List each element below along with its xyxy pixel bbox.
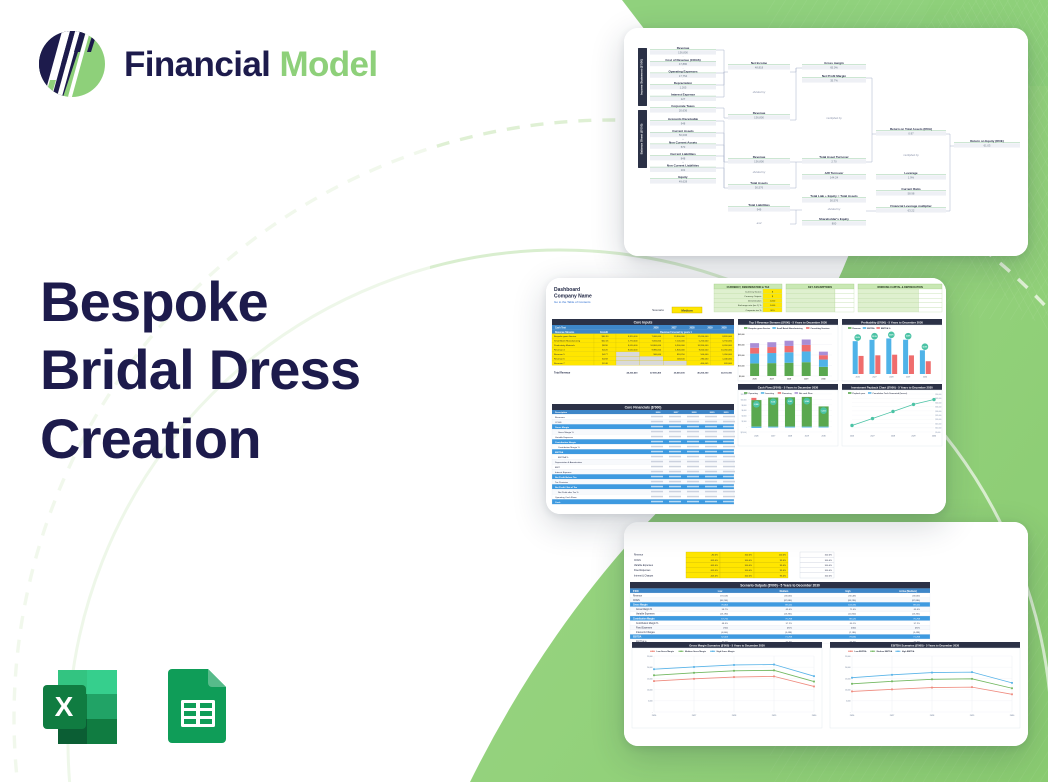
tree-node: multiplied by <box>903 153 919 157</box>
svg-text:Investing: Investing <box>765 392 775 395</box>
svg-text:100.0%: 100.0% <box>745 570 752 572</box>
svg-text:580,000: 580,000 <box>653 354 662 356</box>
svg-text:Net Profit after Tax %: Net Profit after Tax % <box>558 491 579 494</box>
svg-text:818,250: 818,250 <box>677 354 686 356</box>
svg-text:Productivity Materials: Productivity Materials <box>554 344 576 347</box>
svg-text:1,040,000: 1,040,000 <box>722 359 732 361</box>
svg-text:$45,000: $45,000 <box>738 334 745 336</box>
svg-text:20,000: 20,000 <box>845 667 851 669</box>
svg-text:$12,000: $12,000 <box>741 394 747 396</box>
svg-text:Medium Gross Margin: Medium Gross Margin <box>685 651 707 653</box>
svg-text:Total Liabilities: Total Liabilities <box>748 203 770 207</box>
svg-text:Net Profit Before Tax: Net Profit Before Tax <box>555 476 577 479</box>
svg-text:Operating Cash Flows: Operating Cash Flows <box>555 496 578 499</box>
svg-text:2030: 2030 <box>821 436 825 438</box>
svg-text:Gross Margin %: Gross Margin % <box>636 608 652 611</box>
svg-text:EBITDA %: EBITDA % <box>881 327 891 330</box>
svg-text:1.9%: 1.9% <box>908 176 915 180</box>
svg-text:Variable Expenses: Variable Expenses <box>555 436 574 439</box>
svg-text:89,100: 89,100 <box>913 605 920 607</box>
svg-text:Variable Expenses: Variable Expenses <box>634 564 654 567</box>
svg-text:(700): (700) <box>723 628 728 630</box>
svg-text:848: 848 <box>681 156 686 160</box>
svg-text:50,006: 50,006 <box>679 133 688 137</box>
svg-text:-105.0%: -105.0% <box>710 570 718 572</box>
svg-text:Gross Margin Scenarios ($'000): Gross Margin Scenarios ($'000) - 5 Years… <box>689 643 765 647</box>
svg-text:Tax Provision: Tax Provision <box>555 481 569 484</box>
svg-text:71.4%: 71.4% <box>850 609 856 611</box>
svg-text:X: X <box>55 691 74 722</box>
svg-text:Scenario Outputs ($'000) - 5 Y: Scenario Outputs ($'000) - 5 Years to De… <box>740 584 820 588</box>
svg-text:800: 800 <box>832 222 837 226</box>
svg-text:57.2%: 57.2% <box>786 623 792 625</box>
svg-text:Return on Equity (ROE): Return on Equity (ROE) <box>970 139 1004 143</box>
svg-text:2027: 2027 <box>671 327 677 329</box>
svg-text:48.5%: 48.5% <box>722 623 728 625</box>
svg-text:Denomination: Denomination <box>748 300 762 303</box>
svg-text:$5,000: $5,000 <box>739 376 745 378</box>
svg-text:12,050,000: 12,050,000 <box>698 336 710 338</box>
svg-text:Contribution Margin %: Contribution Margin % <box>558 446 580 449</box>
svg-text:divided by: divided by <box>753 170 766 174</box>
svg-text:Bespoke gown Service: Bespoke gown Service <box>748 328 771 330</box>
svg-text:Corporate Taxes: Corporate Taxes <box>671 104 695 108</box>
svg-text:2028: 2028 <box>689 327 695 329</box>
svg-text:Revenue 4: Revenue 4 <box>554 350 565 352</box>
page-title-line-1: Bespoke <box>40 268 460 336</box>
svg-text:100.0%: 100.0% <box>825 570 832 572</box>
svg-text:2026: 2026 <box>754 436 758 438</box>
svg-text:Accounts Receivable: Accounts Receivable <box>668 117 699 121</box>
svg-text:Revenue: Revenue <box>634 555 644 557</box>
svg-text:Cash: Cash <box>555 502 561 504</box>
svg-text:-105.0%: -105.0% <box>710 560 718 562</box>
svg-text:2030: 2030 <box>724 412 730 414</box>
svg-text:2030: 2030 <box>721 327 727 329</box>
svg-text:100.0%: 100.0% <box>825 565 832 567</box>
svg-text:High Gross Margin: High Gross Margin <box>717 651 736 653</box>
brand-logo[interactable]: Financial Model <box>36 28 378 100</box>
svg-text:(13,361): (13,361) <box>912 614 920 616</box>
svg-text:6,010,000: 6,010,000 <box>722 345 732 347</box>
svg-text:Low EBITDA: Low EBITDA <box>855 650 868 653</box>
svg-text:58.98: 58.98 <box>908 192 915 196</box>
svg-text:multiplied by: multiplied by <box>903 153 919 157</box>
svg-text:1,050,000: 1,050,000 <box>722 354 732 356</box>
svg-text:$35,000: $35,000 <box>936 407 942 409</box>
svg-text:CURRENCY, DENOMINATION & TAX: CURRENCY, DENOMINATION & TAX <box>727 286 770 289</box>
dashboard-canvas: DashboardCompany NameGo to the Table of … <box>546 278 946 514</box>
svg-text:Bespoke gown Service: Bespoke gown Service <box>554 335 577 338</box>
svg-text:-105.0%: -105.0% <box>710 565 718 567</box>
svg-text:60.1%: 60.1% <box>850 623 856 625</box>
svg-text:A/R Turnover: A/R Turnover <box>825 171 845 175</box>
svg-text:Current Liabilities: Current Liabilities <box>670 152 696 156</box>
svg-text:Operating: Operating <box>748 392 758 395</box>
svg-text:Exchange rate (tax 1) %: Exchange rate (tax 1) % <box>738 304 762 307</box>
svg-text:Gross Margin %: Gross Margin % <box>558 431 574 434</box>
svg-text:Revenue: Revenue <box>852 328 861 330</box>
svg-text:Medium: Medium <box>780 591 789 593</box>
svg-text:Revenue: Revenue <box>677 46 690 50</box>
svg-text:(4,840): (4,840) <box>721 632 728 634</box>
svg-text:2029: 2029 <box>805 436 809 438</box>
svg-text:570: 570 <box>681 145 686 149</box>
svg-text:7,080,000: 7,080,000 <box>652 336 662 338</box>
svg-text:(87,880): (87,880) <box>784 600 792 602</box>
svg-text:9,136: 9,136 <box>771 401 775 403</box>
svg-text:Net cash Flow: Net cash Flow <box>799 392 813 395</box>
svg-text:Growth: Growth <box>600 331 609 334</box>
svg-text:2027: 2027 <box>674 412 680 414</box>
svg-text:(83,290): (83,290) <box>848 600 856 602</box>
svg-text:76,864: 76,864 <box>721 605 728 607</box>
svg-text:(80,206): (80,206) <box>720 600 728 602</box>
svg-text:2028: 2028 <box>788 436 792 438</box>
svg-text:144.24: 144.24 <box>830 176 839 180</box>
svg-text:Revenue: Revenue <box>633 595 643 597</box>
svg-text:1.000: 1.000 <box>770 305 776 307</box>
svg-text:500,000: 500,000 <box>701 354 710 356</box>
svg-text:High EBITDA: High EBITDA <box>902 650 915 653</box>
dupont-tree-canvas: Income Statement ($'000)Balance Sheet ($… <box>624 28 1028 256</box>
svg-text:Income Statement ($'000): Income Statement ($'000) <box>640 59 644 95</box>
svg-text:2030: 2030 <box>923 376 927 378</box>
svg-text:$15,000: $15,000 <box>738 366 745 368</box>
svg-text:2028: 2028 <box>692 412 698 414</box>
svg-text:$25,000: $25,000 <box>738 355 745 357</box>
svg-text:Current Ratio: Current Ratio <box>901 187 920 191</box>
svg-text:206,800: 206,800 <box>784 595 793 597</box>
svg-text:$15,000: $15,000 <box>936 423 942 425</box>
svg-text:Gross Margin: Gross Margin <box>555 427 570 429</box>
svg-text:$50,000: $50,000 <box>936 394 942 396</box>
svg-text:$8.90: $8.90 <box>602 345 608 347</box>
svg-text:48,818: 48,818 <box>755 66 764 70</box>
svg-text:Revenue 7: Revenue 7 <box>554 363 565 365</box>
svg-text:0.97: 0.97 <box>908 132 914 136</box>
tree-node: multiplied by <box>826 116 842 120</box>
svg-text:Gross Margin: Gross Margin <box>633 604 648 607</box>
brand-wordmark: Financial Model <box>124 47 378 82</box>
svg-text:100.0%: 100.0% <box>745 575 752 577</box>
dashboard-screenshot[interactable]: DashboardCompany NameGo to the Table of … <box>546 278 946 514</box>
svg-text:(13,190): (13,190) <box>720 614 728 616</box>
svg-text:$6,000: $6,000 <box>742 410 747 412</box>
svg-text:Non Current Assets: Non Current Assets <box>669 140 697 144</box>
svg-text:Low Gross Margin: Low Gross Margin <box>657 651 675 653</box>
svg-text:2026: 2026 <box>856 376 860 378</box>
svg-text:Top 5 Revenue Streams ($'000): Top 5 Revenue Streams ($'000) - 5 Years … <box>749 320 827 324</box>
svg-text:EBITDA: EBITDA <box>555 451 564 454</box>
google-sheets-icon[interactable] <box>154 663 242 751</box>
svg-text:13,800,000: 13,800,000 <box>674 336 686 338</box>
svg-text:Cost of Revenue (COGS): Cost of Revenue (COGS) <box>665 58 700 62</box>
svg-text:multiplied by: multiplied by <box>826 116 842 120</box>
svg-text:$10,000: $10,000 <box>741 399 747 401</box>
svg-text:Revenue: Revenue <box>753 111 766 115</box>
svg-text:15,000: 15,000 <box>845 678 851 680</box>
svg-text:Corporate tax %: Corporate tax % <box>746 309 762 312</box>
page-title-line-2: Bridal Dress <box>40 336 460 404</box>
svg-text:206,800: 206,800 <box>912 595 921 597</box>
svg-text:Financing: Financing <box>782 393 792 395</box>
svg-text:Cash Test: Cash Test <box>555 326 566 329</box>
svg-text:25,000: 25,000 <box>647 656 653 658</box>
svg-text:949: 949 <box>757 208 762 212</box>
svg-text:30%: 30% <box>770 310 774 312</box>
svg-text:Contribution Margin: Contribution Margin <box>555 441 577 444</box>
svg-text:divided by: divided by <box>753 90 766 94</box>
svg-text:$4.20: $4.20 <box>602 350 608 352</box>
svg-text:20,636: 20,636 <box>679 109 688 113</box>
svg-text:95.0%: 95.0% <box>780 575 786 577</box>
svg-text:2.70: 2.70 <box>831 160 837 164</box>
svg-text:Non Current Liabilities: Non Current Liabilities <box>667 164 700 168</box>
svg-text:(817): (817) <box>787 628 792 630</box>
svg-text:Description: Description <box>555 411 568 414</box>
svg-text:9,000,000: 9,000,000 <box>699 350 709 352</box>
scenario-outputs-screenshot[interactable]: Revenue-90.0%100.0%110.0%100.0%COGS-105.… <box>624 522 1028 746</box>
svg-text:EBITDA: EBITDA <box>633 636 642 639</box>
tree-node: divided by <box>753 90 766 94</box>
svg-text:5,770,000: 5,770,000 <box>628 341 638 343</box>
svg-text:10,050,000: 10,050,000 <box>721 350 733 352</box>
svg-text:10,000: 10,000 <box>845 690 851 692</box>
svg-text:47,880: 47,880 <box>679 62 688 66</box>
svg-text:15,000: 15,000 <box>647 678 653 680</box>
svg-text:KEY ASSUMPTIONS: KEY ASSUMPTIONS <box>808 286 832 289</box>
svg-text:20,000: 20,000 <box>647 667 653 669</box>
svg-text:8,566: 8,566 <box>754 404 758 406</box>
svg-text:71,708: 71,708 <box>913 637 920 639</box>
svg-text:Return on Total Assets (ROA): Return on Total Assets (ROA) <box>890 127 932 131</box>
svg-text:63.22: 63.22 <box>908 209 915 213</box>
svg-text:2027: 2027 <box>770 378 774 380</box>
svg-text:2027: 2027 <box>872 376 876 378</box>
scenarios-canvas: Revenue-90.0%100.0%110.0%100.0%COGS-105.… <box>624 522 1028 746</box>
svg-text:Net Profit / Net of Tax: Net Profit / Net of Tax <box>555 486 578 489</box>
svg-text:16,800,000: 16,800,000 <box>650 345 662 347</box>
svg-text:40,250,300: 40,250,300 <box>697 372 709 375</box>
svg-text:71,708: 71,708 <box>785 637 792 639</box>
svg-text:divided by: divided by <box>828 207 841 211</box>
svg-text:$40,000: $40,000 <box>936 402 942 404</box>
svg-text:5,250,000: 5,250,000 <box>699 341 709 343</box>
svg-text:17,754: 17,754 <box>679 74 688 78</box>
svg-text:Profitability ($'000) - 5 Year: Profitability ($'000) - 5 Years to Decem… <box>861 320 923 324</box>
svg-text:EBITDA %: EBITDA % <box>558 456 568 459</box>
svg-text:52,003: 52,003 <box>721 637 728 639</box>
svg-text:$30,000: $30,000 <box>936 411 942 413</box>
svg-text:Fixed Expenses: Fixed Expenses <box>636 628 653 630</box>
financial-model-dupont-tree-screenshot[interactable]: Income Statement ($'000)Balance Sheet ($… <box>624 28 1028 256</box>
tree-node: divided by <box>828 207 841 211</box>
svg-text:65.0%: 65.0% <box>786 609 792 611</box>
svg-text:Total Assets: Total Assets <box>750 181 768 185</box>
svg-text:$4.58: $4.58 <box>602 359 608 361</box>
page-title-line-3: Creation <box>40 405 460 473</box>
svg-text:$2.48: $2.48 <box>602 363 608 365</box>
svg-text:79,830: 79,830 <box>849 637 856 639</box>
svg-text:Current Assets: Current Assets <box>672 129 694 133</box>
svg-text:2026: 2026 <box>752 378 756 380</box>
svg-text:67,710: 67,710 <box>721 618 728 620</box>
svg-text:148,100: 148,100 <box>677 359 686 361</box>
svg-text:High: High <box>845 591 851 593</box>
svg-text:35.7%: 35.7% <box>830 79 838 83</box>
svg-text:(11,840): (11,840) <box>848 614 856 616</box>
svg-text:$35,000: $35,000 <box>738 345 745 347</box>
svg-text:101: 101 <box>681 168 686 172</box>
svg-text:1,000: 1,000 <box>770 301 776 303</box>
svg-text:136,800: 136,800 <box>754 160 764 164</box>
svg-text:$10,000: $10,000 <box>936 428 942 430</box>
svg-text:Contribution Margin: Contribution Margin <box>633 617 655 620</box>
svg-text:Interest Expense: Interest Expense <box>671 93 695 97</box>
svg-text:Core Financials ($'000): Core Financials ($'000) <box>625 406 662 410</box>
svg-text:2027: 2027 <box>870 436 874 438</box>
financial-model-circle-logo <box>36 28 108 100</box>
svg-text:5,000: 5,000 <box>846 701 851 703</box>
svg-text:Cash Flow ($'000) - 5 Years to: Cash Flow ($'000) - 5 Years to December … <box>758 385 819 389</box>
brand-word-primary: Financial <box>124 45 270 84</box>
svg-text:50,576: 50,576 <box>755 186 764 190</box>
svg-text:8,050,000: 8,050,000 <box>628 345 638 347</box>
svg-text:Balance Sheet ($'000): Balance Sheet ($'000) <box>640 124 644 155</box>
svg-text:136,800: 136,800 <box>754 116 764 120</box>
svg-text:Depreciation: Depreciation <box>674 81 692 85</box>
svg-text:Operating Expenses: Operating Expenses <box>668 69 697 73</box>
svg-text:2026: 2026 <box>656 412 662 414</box>
svg-text:7,050,000: 7,050,000 <box>652 341 662 343</box>
svg-text:948: 948 <box>681 122 686 126</box>
svg-text:Equity: Equity <box>678 175 687 179</box>
svg-text:55.0%: 55.0% <box>872 336 877 338</box>
svg-text:230,480: 230,480 <box>848 595 857 597</box>
svg-text:65.0%: 65.0% <box>914 609 920 611</box>
svg-text:COGS: COGS <box>633 600 640 602</box>
svg-text:100.0%: 100.0% <box>745 560 752 562</box>
svg-text:and: and <box>757 221 762 225</box>
svg-text:$(2,000): $(2,000) <box>741 432 747 434</box>
svg-text:Interest & Charges: Interest & Charges <box>634 574 654 577</box>
svg-text:Medium EBITDA: Medium EBITDA <box>877 650 893 653</box>
svg-text:(3,498): (3,498) <box>913 632 920 634</box>
svg-text:(2,180): (2,180) <box>849 632 856 634</box>
svg-text:127: 127 <box>681 97 686 101</box>
tree-node: and <box>757 221 762 225</box>
svg-text:Net Income: Net Income <box>751 61 768 65</box>
svg-text:$22.15: $22.15 <box>602 341 609 343</box>
svg-text:EBIT: EBIT <box>555 467 561 469</box>
svg-text:$64.30: $64.30 <box>602 336 609 338</box>
svg-text:$4,000: $4,000 <box>742 416 747 418</box>
microsoft-excel-icon[interactable]: X <box>36 663 124 751</box>
svg-text:1,265: 1,265 <box>680 85 687 89</box>
svg-text:$5,000: $5,000 <box>936 432 941 434</box>
svg-text:Variable Expenses: Variable Expenses <box>636 613 655 616</box>
svg-text:10,000: 10,000 <box>647 690 653 692</box>
svg-text:47,800,400: 47,800,400 <box>650 372 662 375</box>
svg-text:EBITDA: EBITDA <box>867 327 875 330</box>
svg-text:5,000: 5,000 <box>648 701 653 703</box>
svg-text:75,758: 75,758 <box>785 618 792 620</box>
svg-text:Core Inputs: Core Inputs <box>634 321 653 325</box>
svg-text:9,980,000: 9,980,000 <box>652 350 662 352</box>
svg-text:Currency Source: Currency Source <box>745 290 762 293</box>
svg-text:2028: 2028 <box>889 376 893 378</box>
svg-text:100.0%: 100.0% <box>745 555 752 557</box>
slide-canvas: Financial Model Bespoke Bridal Dress Cre… <box>0 0 1048 782</box>
svg-text:-90.0%: -90.0% <box>711 555 718 557</box>
svg-text:55.0%: 55.0% <box>855 337 860 339</box>
svg-text:(13,361): (13,361) <box>784 614 792 616</box>
svg-text:Contribution Margin %: Contribution Margin % <box>636 622 658 625</box>
svg-text:2029: 2029 <box>710 412 716 414</box>
svg-text:Net Profit Margin: Net Profit Margin <box>822 74 846 78</box>
svg-text:280,030: 280,030 <box>701 359 710 361</box>
tree-node: divided by <box>753 170 766 174</box>
svg-text:Interest Expense: Interest Expense <box>555 471 572 474</box>
svg-text:(3,498): (3,498) <box>785 632 792 634</box>
svg-text:2030: 2030 <box>821 378 825 380</box>
svg-text:Revenue Forecast by years 1: Revenue Forecast by years 1 <box>660 331 692 334</box>
svg-text:95.0%: 95.0% <box>780 565 786 567</box>
svg-text:2028: 2028 <box>787 378 791 380</box>
svg-text:2029: 2029 <box>911 436 915 438</box>
svg-text:COGS: COGS <box>634 560 641 562</box>
svg-text:$25,000: $25,000 <box>936 415 942 417</box>
brand-word-secondary: Model <box>279 47 377 82</box>
svg-text:Low: Low <box>718 591 723 593</box>
svg-text:89,100: 89,100 <box>785 605 792 607</box>
svg-text:58.7%: 58.7% <box>722 609 728 611</box>
svg-text:$2,000: $2,000 <box>742 421 747 423</box>
svg-text:8,820,000: 8,820,000 <box>722 336 732 338</box>
tree-node: Total Liab + Equity = Total Assets50,576 <box>802 194 866 202</box>
svg-text:2026: 2026 <box>850 436 854 438</box>
svg-text:(87,880): (87,880) <box>912 600 920 602</box>
svg-text:2030: 2030 <box>932 436 936 438</box>
svg-text:5,750,000: 5,750,000 <box>722 341 732 343</box>
svg-text:100.0%: 100.0% <box>745 565 752 567</box>
page-title: Bespoke Bridal Dress Creation <box>40 268 460 473</box>
svg-text:Small Batch Manufacturing: Small Batch Manufacturing <box>777 327 804 330</box>
svg-text:43,119,300: 43,119,300 <box>721 372 733 375</box>
svg-text:100.0%: 100.0% <box>825 560 832 562</box>
svg-text:Currency Outputs: Currency Outputs <box>744 295 762 298</box>
svg-text:2027: 2027 <box>771 436 775 438</box>
svg-text:Financial Leverage multiplier: Financial Leverage multiplier <box>890 204 932 208</box>
svg-text:$20,000: $20,000 <box>936 419 942 421</box>
svg-text:100.0%: 100.0% <box>825 555 832 557</box>
svg-text:6,372: 6,372 <box>822 410 826 412</box>
svg-text:Fixed Expenses: Fixed Expenses <box>634 570 651 572</box>
svg-text:WORKING CAPITAL & DEPRECIATION: WORKING CAPITAL & DEPRECIATION <box>877 286 923 289</box>
svg-text:Investment Payback Chart ($'00: Investment Payback Chart ($'000) - 5 Yea… <box>851 385 933 389</box>
svg-text:8,050,000: 8,050,000 <box>628 350 638 352</box>
svg-text:6,900,000: 6,900,000 <box>675 345 685 347</box>
svg-text:50,576: 50,576 <box>830 199 839 203</box>
svg-text:191,530: 191,530 <box>720 595 729 597</box>
svg-text:61.03: 61.03 <box>984 144 991 148</box>
svg-text:$'000: $'000 <box>633 591 639 593</box>
svg-text:Revenue 6: Revenue 6 <box>554 359 565 361</box>
svg-text:Company Name: Company Name <box>554 294 592 300</box>
svg-text:Payback year: Payback year <box>852 393 865 395</box>
svg-text:Go to the Table of Contents: Go to the Table of Contents <box>554 300 591 304</box>
